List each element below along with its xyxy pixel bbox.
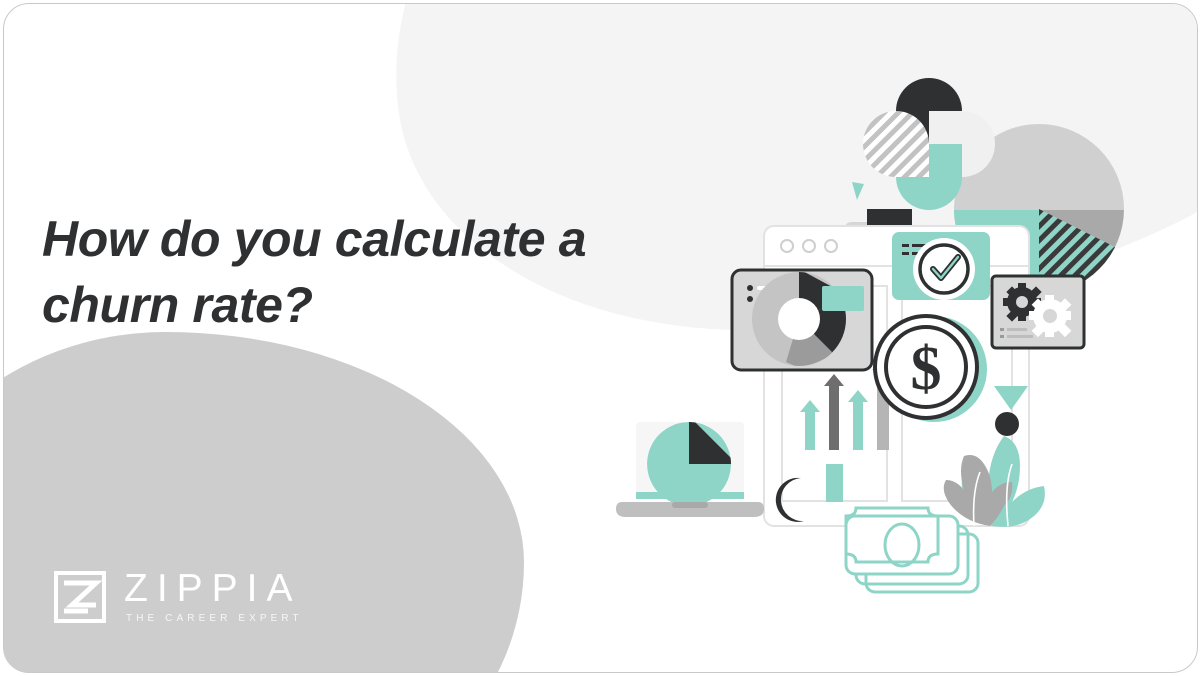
brand-name: ZIPPIA: [124, 569, 303, 608]
laptop-pie-chart: [616, 416, 764, 517]
banknote-stack: [846, 508, 978, 592]
brand-tagline: THE CAREER EXPERT: [126, 613, 303, 624]
dark-dot-accent: [995, 412, 1019, 436]
checklist-approved-card: [892, 232, 990, 300]
article-card: How do you calculate a churn rate? ZIPPI…: [3, 3, 1198, 673]
teal-triangle-accent: [852, 182, 864, 200]
page-title: How do you calculate a churn rate?: [42, 206, 642, 338]
brand-logo: ZIPPIA THE CAREER EXPERT: [54, 569, 303, 624]
donut-chart-card: [732, 269, 872, 370]
screenshot-root: How do you calculate a churn rate? ZIPPI…: [0, 0, 1201, 676]
check-circle-icon: [913, 238, 975, 300]
illustration-business-analytics: $: [604, 64, 1184, 644]
brand-logo-text: ZIPPIA THE CAREER EXPERT: [124, 569, 303, 624]
teal-bar-accent: [826, 464, 843, 502]
dollar-coin: $: [875, 316, 987, 422]
settings-gears-card: [992, 276, 1084, 348]
zippia-z-mark-icon: [54, 571, 106, 623]
dollar-sign: $: [911, 335, 942, 403]
